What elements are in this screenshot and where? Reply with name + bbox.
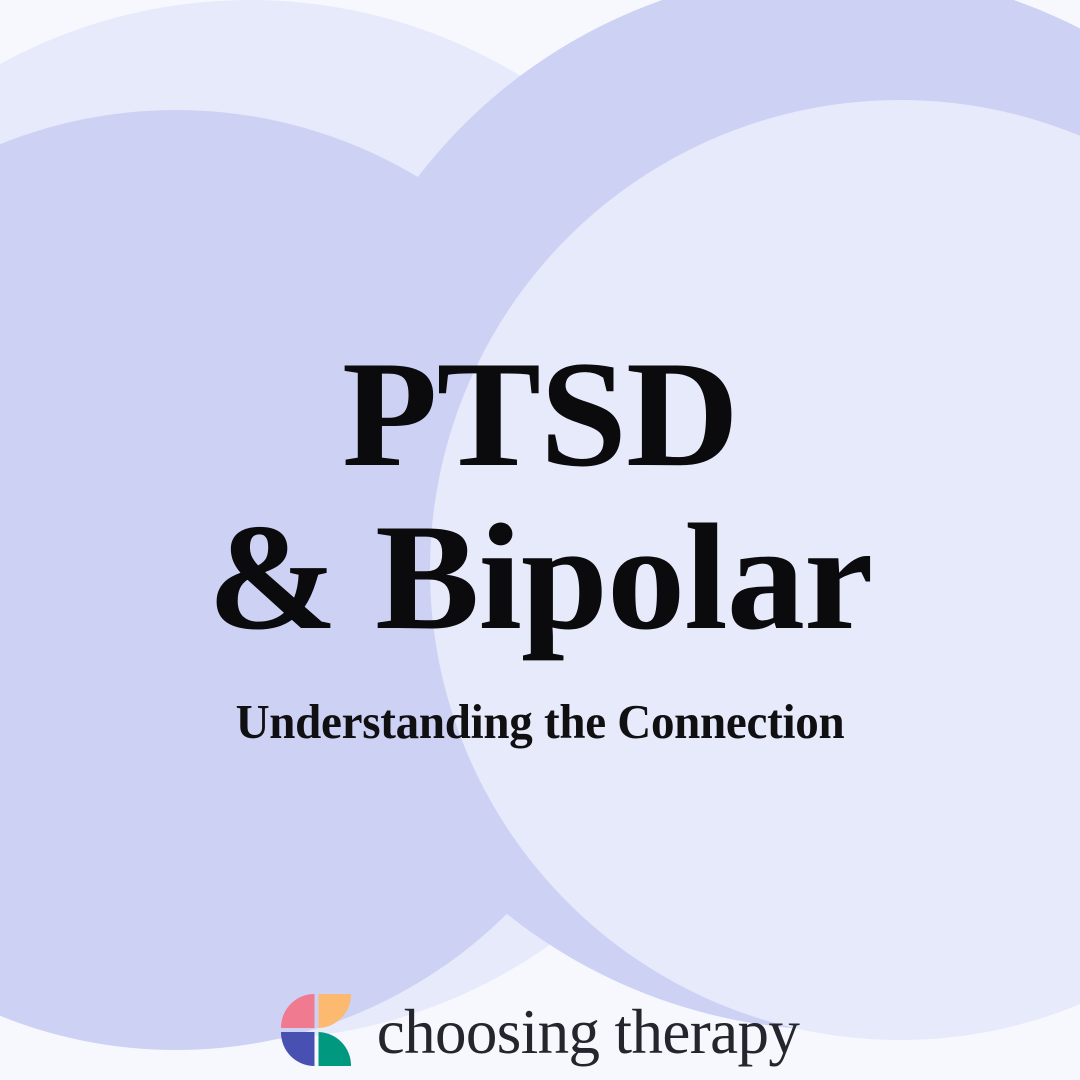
brand-lockup[interactable]: choosing therapy: [0, 994, 1080, 1066]
logo-quadrant-top-left: [281, 994, 315, 1028]
card-content: PTSD & Bipolar Understanding the Connect…: [0, 0, 1080, 1080]
headline-line-1: PTSD: [0, 340, 1080, 489]
headline-line-2: & Bipolar: [0, 503, 1080, 652]
logo-quadrant-bottom-right: [318, 1032, 351, 1066]
headline-block: PTSD & Bipolar Understanding the Connect…: [0, 340, 1080, 747]
subheadline: Understanding the Connection: [22, 696, 1059, 747]
choosing-therapy-wordmark: choosing therapy: [377, 1001, 800, 1064]
logo-quadrant-top-right: [318, 994, 351, 1028]
choosing-therapy-logo-mark: [281, 994, 351, 1066]
logo-quadrant-bottom-left: [281, 1032, 315, 1066]
social-card: PTSD & Bipolar Understanding the Connect…: [0, 0, 1080, 1080]
